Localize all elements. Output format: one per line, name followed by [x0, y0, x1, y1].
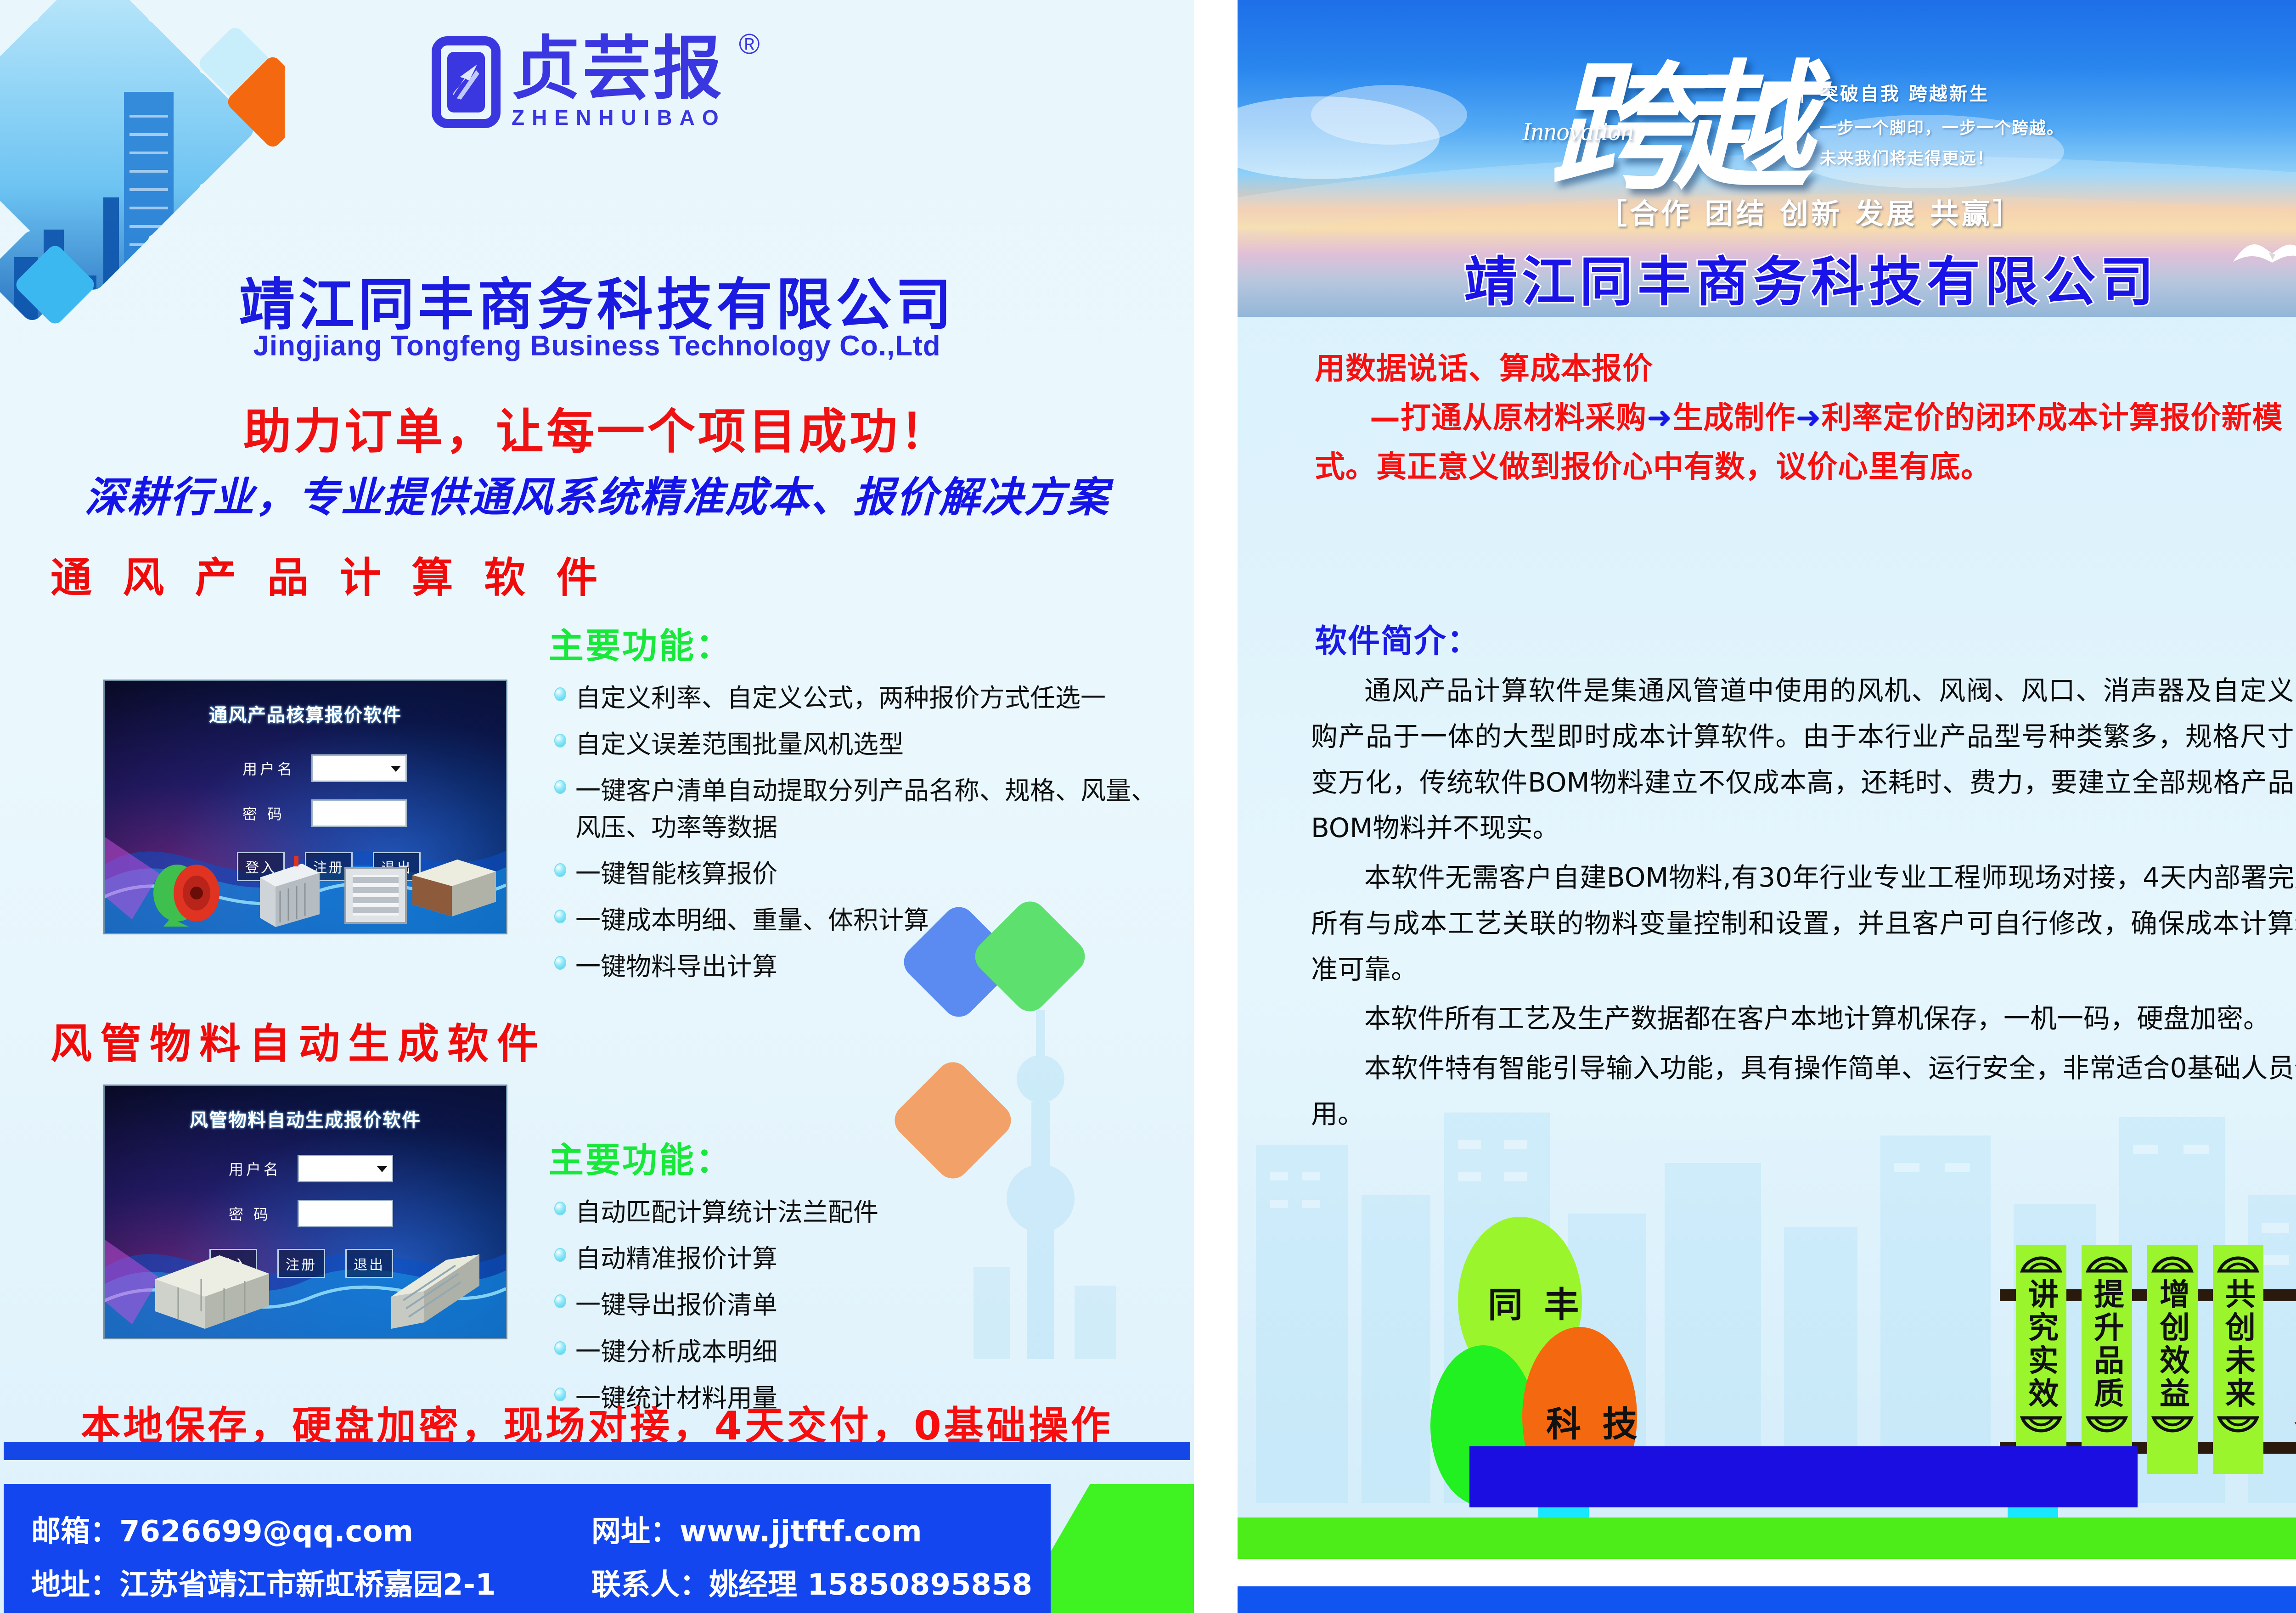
- red-title: 用数据说话、算成本报价: [1315, 351, 1653, 386]
- logo-chinese-text: 贞芸报: [512, 34, 726, 103]
- screenshot-ventilation-login: 通风产品核算报价软件 用户名 密 码 登入 注册 退出: [103, 680, 507, 934]
- list-item: 一键分析成本明细: [549, 1334, 1159, 1370]
- red-body-a: —打通从原材料采购: [1370, 400, 1647, 435]
- banner-2: 提升品质: [2082, 1245, 2132, 1474]
- banner-ornament-top-icon: [2213, 1245, 2263, 1275]
- bullet-icon: [554, 1341, 566, 1355]
- footer-website[interactable]: 网址：www.jjtftf.com: [591, 1508, 922, 1550]
- hero-subline-1: 突破自我 跨越新生: [1820, 79, 1990, 106]
- arrow-right-icon-2: ➜: [1795, 400, 1821, 435]
- intro-paragraph: 通风产品计算软件是集通风管道中使用的风机、风阀、风口、消声器及自定义外购产品于一…: [1311, 668, 2296, 851]
- footer-green-strip: [1238, 1517, 2296, 1559]
- hero-calligraphy-kuayue: 跨越: [1550, 16, 1798, 215]
- banner-ornament-top-icon: [2016, 1245, 2066, 1275]
- banner-ornament-top-icon: [2147, 1245, 2198, 1275]
- software-intro-heading: 软件简介：: [1315, 615, 1480, 662]
- left-page: 贞芸报 ® ZHENHUIBAO 靖江同丰商务科技有限公司 Jingjiang …: [0, 0, 1194, 1613]
- password-label: 密 码: [242, 803, 311, 824]
- banner-ornament-bottom-icon: [2082, 1414, 2132, 1444]
- banner-3: 增创效益: [2147, 1245, 2198, 1474]
- play-triangle-icon: [1770, 82, 1791, 109]
- screenshot-title: 通风产品核算报价软件: [105, 700, 506, 727]
- bullet-icon: [554, 734, 566, 747]
- section-title-ventilation-software: 通 风 产 品 计 算 软 件: [51, 544, 606, 604]
- username-input[interactable]: [298, 1155, 393, 1182]
- registered-trademark-icon: ®: [739, 28, 760, 61]
- banner-text: 讲究实效: [2026, 1278, 2056, 1411]
- hero-innovation-text: Innovation: [1522, 117, 1634, 146]
- bullet-icon: [554, 780, 566, 794]
- book-stack-icon: [2280, 1295, 2296, 1474]
- hero-core-values: ［合作 团结 创新 发展 共赢］: [1238, 191, 2296, 232]
- banner-text: 共创未来: [2223, 1278, 2253, 1411]
- feature-list-duct: 主要功能： 自动匹配计算统计法兰配件 自动精准报价计算 一键导出报价清单 一键分…: [549, 1132, 1159, 1427]
- footer-address: 地址：江苏省靖江市新虹桥嘉园2-1: [31, 1561, 496, 1603]
- username-label: 用户名: [229, 1158, 298, 1179]
- username-label: 用户名: [242, 758, 311, 779]
- right-page: 跨越 Innovation 突破自我 跨越新生 一步一个脚印，一步一个跨越。 未…: [1238, 0, 2296, 1613]
- list-item: 自动匹配计算统计法兰配件: [549, 1194, 1159, 1231]
- duct-product-icon: [408, 856, 500, 920]
- hero-divider-rule: [1801, 74, 1803, 103]
- page-gutter: [1194, 0, 1238, 1613]
- feature-list-heading: 主要功能：: [549, 1132, 1159, 1182]
- duct-panel-product-icon: [373, 1242, 488, 1333]
- contact-footer: 邮箱：7626699@qq.com 网址：www.jjtftf.com 地址：江…: [4, 1484, 1051, 1613]
- red-body-b: 生成制作: [1672, 400, 1795, 435]
- company-name-en: Jingjiang Tongfeng Business Technology C…: [0, 330, 1194, 362]
- list-item: 一键智能核算报价: [549, 856, 1159, 892]
- bullet-icon: [554, 687, 566, 701]
- bullet-icon: [554, 863, 566, 877]
- red-headline-block: 用数据说话、算成本报价 —打通从原材料采购➜生成制作➜利率定价的闭环成本计算报价…: [1315, 344, 2296, 492]
- flyer-sheet: 贞芸报 ® ZHENHUIBAO 靖江同丰商务科技有限公司 Jingjiang …: [0, 0, 2296, 1613]
- banner-ornament-top-icon: [2082, 1245, 2132, 1275]
- hero-banner: 跨越 Innovation 突破自我 跨越新生 一步一个脚印，一步一个跨越。 未…: [1238, 0, 2296, 317]
- screenshot-title: 风管物料自动生成报价软件: [105, 1105, 506, 1132]
- ellipse-keji-label: 科 技: [1546, 1396, 1642, 1446]
- bench-seat: [1469, 1446, 2138, 1507]
- secondary-slogan: 深耕行业，专业提供通风系统精准成本、报价解决方案: [0, 464, 1194, 523]
- silencer-product-icon: [252, 854, 325, 929]
- bullet-icon: [554, 956, 566, 970]
- intro-paragraph: 本软件无需客户自建BOM物料,有30年行业专业工程师现场对接，4天内部署完成所有…: [1311, 855, 2296, 992]
- list-item: 一键客户清单自动提取分列产品名称、规格、风量、风压、功率等数据: [549, 773, 1159, 845]
- list-item: 一键导出报价清单: [549, 1287, 1159, 1323]
- divider-bar: [4, 1442, 1190, 1460]
- screenshot-duct-login: 风管物料自动生成报价软件 用户名 密 码 登入 注册 退出: [103, 1085, 507, 1339]
- footer-contact[interactable]: 联系人：姚经理 15850895858: [591, 1561, 1032, 1603]
- logo-english-text: ZHENHUIBAO: [512, 105, 726, 130]
- username-input[interactable]: [311, 754, 407, 782]
- brand-logo: 贞芸报 ® ZHENHUIBAO: [432, 34, 726, 130]
- hero-subline-2: 一步一个脚印，一步一个跨越。: [1820, 115, 2064, 139]
- arrow-z-icon: [447, 52, 485, 102]
- password-input[interactable]: [311, 799, 407, 827]
- bullet-icon: [554, 1202, 566, 1215]
- footer-email[interactable]: 邮箱：7626699@qq.com: [31, 1508, 413, 1550]
- banner-1: 讲究实效: [2016, 1245, 2066, 1474]
- hero-company-name: 靖江同丰商务科技有限公司: [1238, 239, 2296, 316]
- banner-4: 共创未来: [2213, 1245, 2263, 1474]
- primary-slogan: 助力订单，让每一个项目成功！: [0, 393, 1194, 462]
- password-label: 密 码: [229, 1203, 298, 1224]
- banner-text: 提升品质: [2092, 1278, 2122, 1411]
- ellipse-tongfeng-label: 同 丰: [1488, 1276, 1583, 1327]
- list-item: 自动精准报价计算: [549, 1241, 1159, 1277]
- duct-box-product-icon: [151, 1247, 275, 1334]
- footer-blue-strip: [1238, 1586, 2296, 1613]
- bullet-icon: [554, 1248, 566, 1262]
- damper-product-icon: [343, 866, 408, 925]
- logo-mark-icon: [432, 36, 501, 128]
- hero-subline-3: 未来我们将走得更远！: [1820, 145, 1994, 169]
- seagull-icon: [2228, 230, 2296, 280]
- bullet-icon: [554, 910, 566, 923]
- password-input[interactable]: [298, 1200, 393, 1227]
- section-title-duct-software: 风管物料自动生成软件: [51, 1010, 546, 1070]
- banner-text: 增创效益: [2157, 1278, 2188, 1411]
- banner-ornament-bottom-icon: [2147, 1414, 2198, 1444]
- banner-ornament-bottom-icon: [2016, 1414, 2066, 1444]
- list-item: 自定义误差范围批量风机选型: [549, 726, 1159, 763]
- fan-product-icon: [145, 854, 228, 927]
- list-item: 自定义利率、自定义公式，两种报价方式任选一: [549, 680, 1159, 716]
- footer-white-strip: [1238, 1559, 2296, 1586]
- bullet-icon: [554, 1294, 566, 1308]
- company-name-cn: 靖江同丰商务科技有限公司: [0, 259, 1194, 341]
- feature-list-heading: 主要功能：: [549, 618, 1159, 668]
- city-silhouette-background: [1238, 998, 2296, 1503]
- arrow-right-icon-1: ➜: [1647, 400, 1672, 435]
- register-button[interactable]: 注册: [277, 1249, 325, 1278]
- banner-ornament-bottom-icon: [2213, 1414, 2263, 1444]
